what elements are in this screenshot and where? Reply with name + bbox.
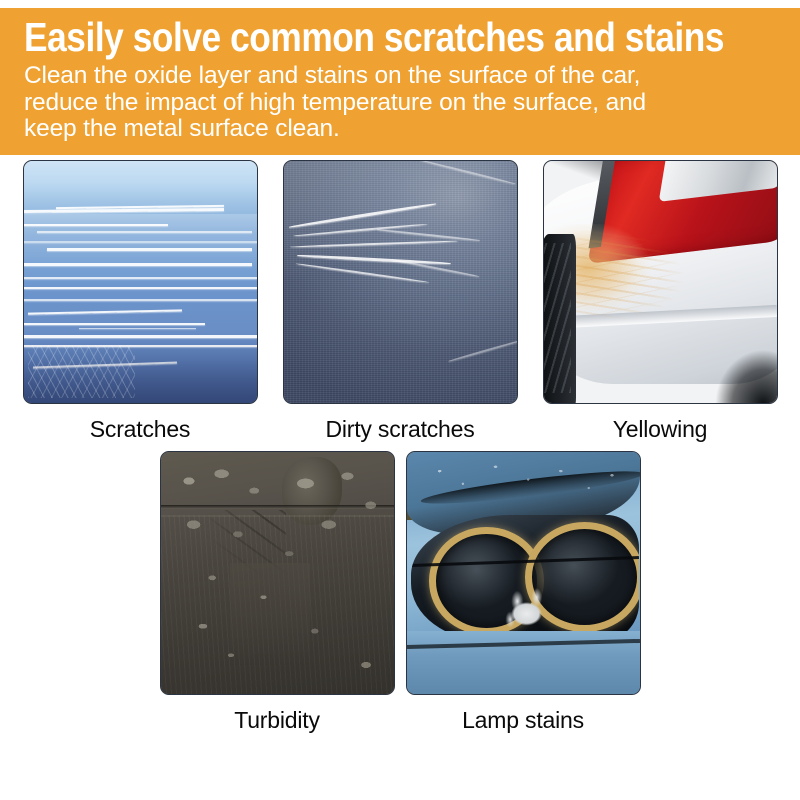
photo-turbidity bbox=[160, 451, 395, 695]
page-title: Easily solve common scratches and stains bbox=[24, 12, 678, 59]
gallery-row-bottom: Turbidity bbox=[0, 451, 800, 734]
gallery-item-turbidity[interactable]: Turbidity bbox=[161, 451, 394, 734]
gallery-item-lamp-stains[interactable]: Lamp stains bbox=[407, 451, 640, 734]
caption-turbidity: Turbidity bbox=[234, 706, 320, 734]
photo-scratches bbox=[23, 160, 258, 404]
gallery-item-yellowing[interactable]: Yellowing bbox=[544, 160, 777, 443]
photo-yellowing bbox=[543, 160, 778, 404]
gallery-item-scratches[interactable]: Scratches bbox=[24, 160, 257, 443]
caption-yellowing: Yellowing bbox=[613, 415, 708, 443]
photo-dirty-scratches bbox=[283, 160, 518, 404]
caption-scratches: Scratches bbox=[90, 415, 190, 443]
header-description: Clean the oxide layer and stains on the … bbox=[24, 63, 784, 143]
photo-lamp-stains bbox=[406, 451, 641, 695]
gallery-row-top: Scratches Dirt bbox=[0, 160, 800, 443]
gallery-item-dirty-scratches[interactable]: Dirty scratches bbox=[284, 160, 517, 443]
caption-dirty-scratches: Dirty scratches bbox=[325, 415, 474, 443]
problem-gallery: Scratches Dirt bbox=[0, 160, 800, 734]
caption-lamp-stains: Lamp stains bbox=[462, 706, 584, 734]
bird-dropping-stain bbox=[500, 585, 551, 633]
header-banner: Easily solve common scratches and stains… bbox=[0, 8, 800, 155]
